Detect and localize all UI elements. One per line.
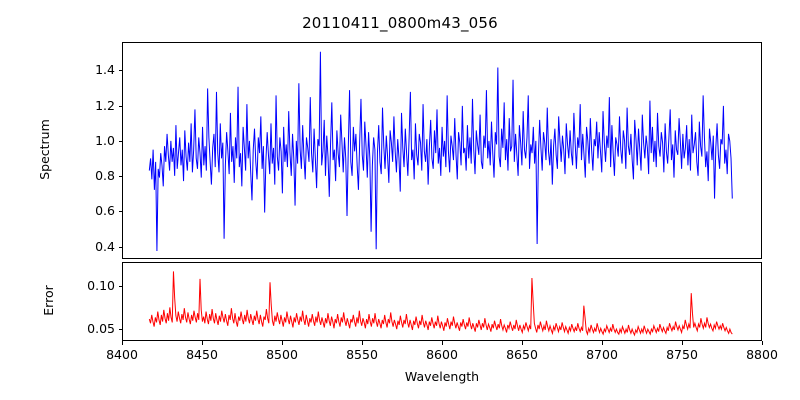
x-tick-mark — [682, 341, 683, 345]
error-y-tick-label: 0.05 — [87, 321, 115, 336]
x-tick-label: 8700 — [562, 347, 642, 362]
spectrum-y-tick-label: 0.8 — [95, 168, 115, 183]
spectrum-y-tick-mark — [119, 247, 123, 248]
spectrum-trace — [149, 52, 732, 251]
error-y-tick-label: 0.10 — [87, 278, 115, 293]
x-tick-label: 8750 — [642, 347, 722, 362]
x-tick-label: 8500 — [242, 347, 322, 362]
spectrum-y-tick-label: 0.6 — [95, 203, 115, 218]
x-tick-label: 8800 — [722, 347, 800, 362]
x-tick-label: 8400 — [82, 347, 162, 362]
spectrum-y-tick-mark — [119, 176, 123, 177]
spectrum-y-tick-mark — [119, 106, 123, 107]
error-trace — [149, 271, 732, 335]
figure-canvas: 20110411_0800m43_056 Spectrum 0.40.60.81… — [0, 0, 800, 400]
error-y-tick-mark — [119, 286, 123, 287]
spectrum-y-axis-label: Spectrum — [37, 41, 52, 258]
x-tick-label: 8600 — [402, 347, 482, 362]
x-tick-mark — [202, 341, 203, 345]
x-tick-mark — [762, 341, 763, 345]
x-tick-label: 8650 — [482, 347, 562, 362]
x-tick-mark — [122, 341, 123, 345]
spectrum-y-tick-label: 1.2 — [95, 98, 115, 113]
spectrum-plot-area — [122, 42, 762, 259]
x-tick-mark — [522, 341, 523, 345]
x-tick-mark — [442, 341, 443, 345]
x-tick-label: 8550 — [322, 347, 402, 362]
x-axis-label: Wavelength — [122, 369, 762, 384]
x-tick-label: 8450 — [162, 347, 242, 362]
error-line-series — [123, 263, 761, 340]
spectrum-y-tick-label: 0.4 — [95, 239, 115, 254]
error-y-tick-mark — [119, 329, 123, 330]
error-plot-area — [122, 262, 762, 341]
spectrum-line-series — [123, 43, 761, 258]
spectrum-y-tick-mark — [119, 141, 123, 142]
x-tick-mark — [282, 341, 283, 345]
error-y-axis-label: Error — [41, 231, 56, 370]
spectrum-y-tick-mark — [119, 211, 123, 212]
figure-title: 20110411_0800m43_056 — [0, 14, 800, 32]
x-tick-mark — [602, 341, 603, 345]
spectrum-y-tick-mark — [119, 70, 123, 71]
spectrum-y-tick-label: 1.4 — [95, 62, 115, 77]
x-tick-mark — [362, 341, 363, 345]
spectrum-y-tick-label: 1.0 — [95, 133, 115, 148]
